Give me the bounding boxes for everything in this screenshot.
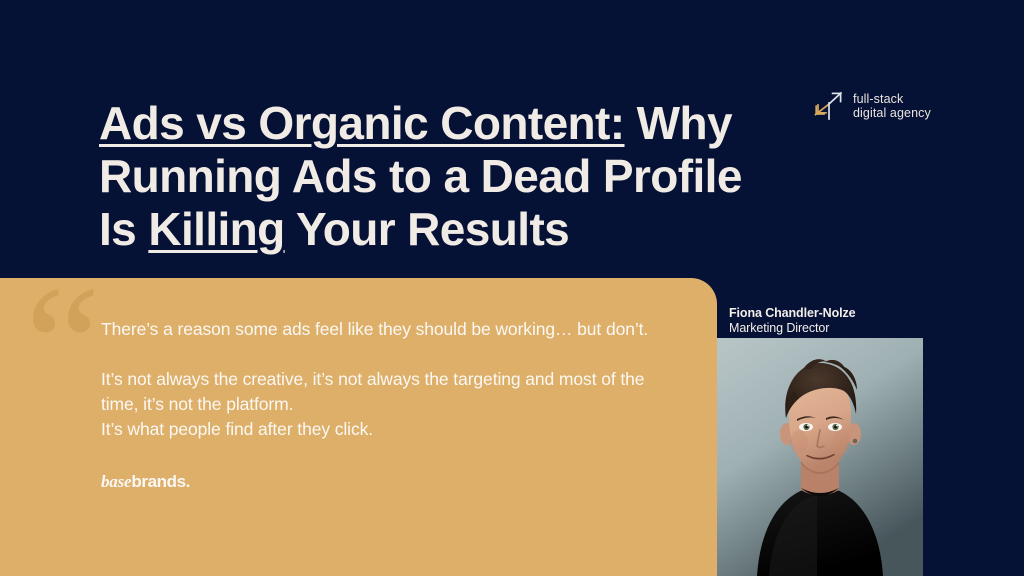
quote-paragraph-1: There’s a reason some ads feel like they… <box>101 317 681 342</box>
title-line-3-prefix: Is <box>99 203 148 255</box>
headshot-portrait-image <box>717 338 923 576</box>
quote-body: There’s a reason some ads feel like they… <box>101 317 681 442</box>
agency-logo-line1: full-stack <box>853 92 931 107</box>
title-line-1-underlined: Ads vs Organic Content: <box>99 97 625 149</box>
speaker-headshot <box>717 338 923 576</box>
title-line-3-underlined: Killing <box>148 203 284 255</box>
basebrands-logo-part2: brands <box>131 472 185 492</box>
slide-title: Ads vs Organic Content: Why Running Ads … <box>99 97 799 256</box>
agency-logo-line2: digital agency <box>853 106 931 121</box>
title-line-3-suffix: Your Results <box>285 203 569 255</box>
decorative-quote-mark-icon: “ <box>25 260 100 430</box>
quote-panel: “ There’s a reason some ads feel like th… <box>0 278 717 576</box>
converging-arrows-icon <box>814 90 844 122</box>
quote-paragraph-2: It’s not always the creative, it’s not a… <box>101 367 681 442</box>
title-line-3: Is Killing Your Results <box>99 203 799 256</box>
presentation-slide: full-stack digital agency Ads vs Organic… <box>0 0 1024 576</box>
speaker-name: Fiona Chandler-Nolze <box>729 306 855 321</box>
title-line-1: Ads vs Organic Content: Why <box>99 97 799 150</box>
agency-logo: full-stack digital agency <box>814 90 931 122</box>
title-line-1-plain: Why <box>625 97 732 149</box>
title-line-2: Running Ads to a Dead Profile <box>99 150 799 203</box>
agency-logo-wordmark: full-stack digital agency <box>853 92 931 121</box>
basebrands-logo: basebrands. <box>101 472 190 492</box>
speaker-role: Marketing Director <box>729 321 855 336</box>
speaker-info: Fiona Chandler-Nolze Marketing Director <box>729 306 855 336</box>
basebrands-logo-part3: . <box>186 472 191 492</box>
basebrands-logo-part1: base <box>101 472 131 492</box>
